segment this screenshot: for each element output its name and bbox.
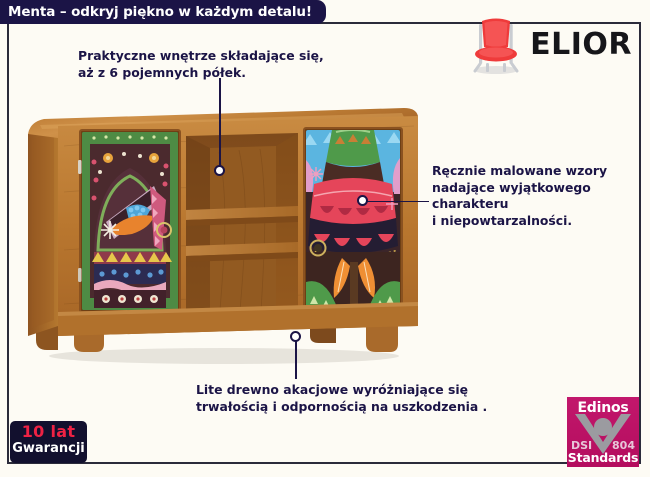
leader-line-wood bbox=[295, 337, 297, 379]
edinos-standards: Standards bbox=[567, 450, 639, 465]
brand-name: ELIOR bbox=[530, 30, 632, 60]
red-chair-icon bbox=[470, 14, 522, 76]
callout-marker-wood bbox=[290, 331, 301, 342]
edinos-standards-badge: Edinos DSI 804 Standards bbox=[567, 397, 639, 467]
leader-line-shelves bbox=[219, 78, 221, 170]
warranty-badge: 10 lat Gwarancji bbox=[10, 421, 87, 463]
promo-banner-canvas: Menta – odkryj piękno w każdym detalu! E… bbox=[0, 0, 650, 477]
callout-text-shelves: Praktyczne wnętrze składające się, aż z … bbox=[78, 48, 324, 81]
callout-marker-shelves bbox=[214, 165, 225, 176]
leader-line-patterns bbox=[363, 201, 429, 203]
header-banner-title: Menta – odkryj piękno w każdym detalu! bbox=[0, 0, 326, 24]
callout-text-wood: Lite drewno akacjowe wyróżniające się tr… bbox=[196, 382, 487, 415]
callout-marker-patterns bbox=[357, 195, 368, 206]
warranty-label: Gwarancji bbox=[10, 441, 87, 457]
warranty-years: 10 lat bbox=[10, 422, 87, 441]
callout-text-patterns: Ręcznie malowane wzory nadające wyjątkow… bbox=[432, 163, 607, 229]
brand-logo: ELIOR bbox=[470, 14, 632, 76]
